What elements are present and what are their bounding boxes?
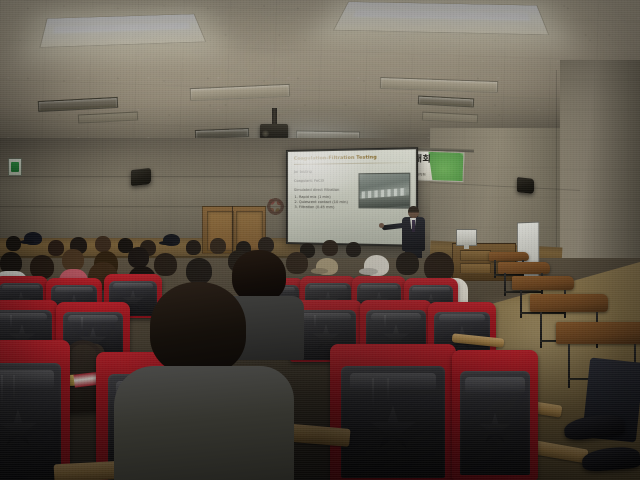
head [396, 252, 419, 275]
seat-ridge [1, 375, 3, 405]
head [346, 242, 361, 257]
auditorium-seat-foreground [330, 344, 456, 480]
seat-ridge [372, 378, 374, 407]
seat-back [341, 366, 444, 478]
presenter-head [408, 206, 419, 218]
head [322, 240, 338, 256]
torso [114, 366, 294, 480]
seat-ridge [384, 315, 386, 328]
cap-brim [359, 268, 379, 275]
head [154, 253, 177, 276]
seat-ridge [13, 375, 15, 401]
desk-top [512, 276, 574, 290]
seat-ridge [10, 315, 12, 328]
podium-drawer-1 [460, 250, 491, 261]
seat-ridge [81, 317, 83, 330]
head [286, 252, 308, 274]
head [48, 240, 64, 256]
lecture-hall-photo: 술대회 한국수자원학회 Coagulation-Filtration Testi… [0, 0, 640, 480]
presenter-tie [412, 220, 415, 232]
cabinet-seam [232, 206, 233, 252]
head [232, 250, 286, 302]
ceiling-light-on-1 [39, 14, 206, 48]
auditorium-seat-foreground [452, 350, 538, 480]
seat-back [0, 363, 61, 480]
emergency-exit-sign [8, 158, 22, 176]
white-cap [364, 255, 389, 276]
beige-cap [316, 258, 338, 275]
slide-photo-jar-test [358, 173, 410, 209]
slide-title-rule [294, 162, 409, 165]
head [186, 240, 201, 255]
star-emblem [369, 405, 417, 453]
head [128, 247, 149, 268]
desk-top [530, 294, 608, 312]
desk-leg [568, 344, 570, 388]
star-emblem [0, 409, 38, 448]
baseball-cap [24, 232, 42, 245]
desk-top [556, 322, 640, 344]
monitor-stand [464, 245, 469, 249]
banner-accent-arc [427, 150, 464, 182]
star-emblem [479, 413, 511, 445]
slide-title: Coagulation-Filtration Testing [294, 155, 409, 162]
baseball-cap [163, 234, 180, 246]
far-right-wall [560, 60, 640, 290]
seat-back [460, 371, 531, 475]
head [210, 238, 226, 254]
cap-brim [159, 241, 172, 245]
head [186, 258, 212, 284]
cap-brim [20, 240, 34, 244]
desk-top [498, 262, 550, 274]
exit-sign-glyph [11, 162, 19, 172]
wall-speaker-left [131, 168, 151, 186]
head [6, 236, 21, 251]
desk-leg [540, 312, 542, 348]
podium-monitor [456, 229, 477, 246]
head [95, 236, 111, 252]
auditorium-seat-foreground [0, 340, 70, 480]
projector-lens [262, 130, 269, 137]
far-right-wall-texture [560, 60, 640, 290]
door-wreath [266, 197, 285, 216]
head [150, 282, 246, 374]
ceiling-light-on-2 [333, 1, 549, 35]
presenter-hand [379, 223, 384, 228]
head [62, 249, 84, 271]
podium-drawer-2 [460, 263, 491, 274]
cap-brim [311, 268, 328, 274]
seat-ridge [314, 315, 316, 328]
seat-ridge [387, 378, 389, 403]
wall-speaker-right [517, 177, 534, 194]
